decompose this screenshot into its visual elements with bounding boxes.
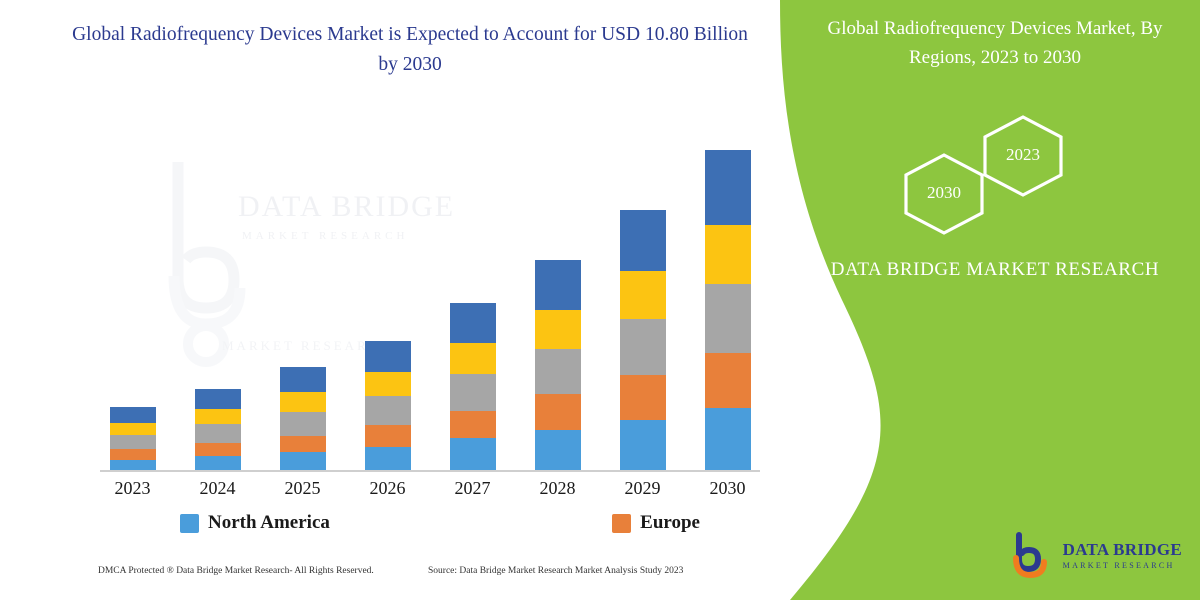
bar-segment-2024-3 <box>195 409 241 424</box>
panel-title: Global Radiofrequency Devices Market, By… <box>810 14 1180 72</box>
bar-segment-2025-4 <box>280 367 326 392</box>
bar-segment-2028-2 <box>535 349 581 395</box>
bar-segment-2023-1 <box>110 449 156 459</box>
bar-2030 <box>705 150 751 470</box>
bar-segment-2028-4 <box>535 260 581 310</box>
bar-segment-2023-2 <box>110 435 156 450</box>
x-tick-2027: 2027 <box>433 478 513 499</box>
x-axis-line <box>100 470 760 472</box>
bar-segment-2030-4 <box>705 150 751 225</box>
hex-badge-2023: 2023 <box>976 112 1070 205</box>
chart-legend: North America Europe <box>180 512 700 534</box>
bar-segment-2029-2 <box>620 319 666 375</box>
bar-segment-2024-1 <box>195 443 241 456</box>
bar-segment-2024-2 <box>195 424 241 443</box>
bar-segment-2029-3 <box>620 271 666 319</box>
bar-segment-2027-1 <box>450 411 496 439</box>
footer-dmca-text: DMCA Protected ® Data Bridge Market Rese… <box>98 566 374 576</box>
legend-item-europe: Europe <box>612 512 700 534</box>
x-tick-2023: 2023 <box>93 478 173 499</box>
x-tick-2028: 2028 <box>518 478 598 499</box>
bar-2027 <box>450 303 496 470</box>
bar-segment-2025-2 <box>280 412 326 436</box>
bar-segment-2026-2 <box>365 396 411 425</box>
logo-subtitle: MARKET RESEARCH <box>1063 562 1182 570</box>
bar-segment-2030-1 <box>705 353 751 408</box>
x-tick-2026: 2026 <box>348 478 428 499</box>
logo-title: DATA BRIDGE <box>1063 541 1182 558</box>
x-tick-2024: 2024 <box>178 478 258 499</box>
stacked-bar-chart <box>90 110 770 470</box>
x-tick-2029: 2029 <box>603 478 683 499</box>
bar-segment-2030-0 <box>705 408 751 470</box>
legend-label-europe: Europe <box>640 512 700 534</box>
footer-source-text: Source: Data Bridge Market Research Mark… <box>428 566 683 576</box>
bar-segment-2026-3 <box>365 372 411 396</box>
bar-segment-2024-0 <box>195 456 241 470</box>
bar-segment-2027-0 <box>450 438 496 470</box>
bar-segment-2028-3 <box>535 310 581 349</box>
right-side-panel: Global Radiofrequency Devices Market, By… <box>780 0 1200 600</box>
bar-segment-2025-0 <box>280 452 326 470</box>
bar-2023 <box>110 407 156 470</box>
bar-segment-2023-4 <box>110 407 156 422</box>
bar-segment-2028-1 <box>535 394 581 429</box>
legend-item-north-america: North America <box>180 512 330 534</box>
legend-swatch-north-america <box>180 514 199 533</box>
company-logo: DATA BRIDGE MARKET RESEARCH <box>1011 532 1182 578</box>
bar-2028 <box>535 260 581 470</box>
bar-segment-2027-2 <box>450 374 496 411</box>
bar-2029 <box>620 210 666 470</box>
legend-label-north-america: North America <box>208 512 330 534</box>
data-bridge-logo-icon <box>1011 532 1055 578</box>
bar-segment-2029-4 <box>620 210 666 271</box>
bar-segment-2027-4 <box>450 303 496 343</box>
legend-swatch-europe <box>612 514 631 533</box>
bar-segment-2024-4 <box>195 389 241 409</box>
bar-segment-2023-3 <box>110 423 156 435</box>
bar-segment-2023-0 <box>110 460 156 470</box>
bar-segment-2025-3 <box>280 392 326 412</box>
x-axis-tick-labels: 20232024202520262027202820292030 <box>90 478 770 508</box>
x-tick-2025: 2025 <box>263 478 343 499</box>
bar-segment-2026-1 <box>365 425 411 447</box>
bar-segment-2025-1 <box>280 436 326 452</box>
bar-segment-2026-4 <box>365 341 411 372</box>
bar-segment-2027-3 <box>450 343 496 374</box>
hex-badge-2023-label: 2023 <box>976 145 1070 165</box>
bar-2025 <box>280 367 326 470</box>
bar-segment-2026-0 <box>365 447 411 470</box>
bar-segment-2029-1 <box>620 375 666 420</box>
bar-2024 <box>195 389 241 470</box>
bar-segment-2030-2 <box>705 284 751 353</box>
panel-brand-name: DATA BRIDGE MARKET RESEARCH <box>810 255 1180 285</box>
x-tick-2030: 2030 <box>688 478 768 499</box>
page-title: Global Radiofrequency Devices Market is … <box>60 20 760 80</box>
bar-segment-2029-0 <box>620 420 666 470</box>
bar-2026 <box>365 341 411 470</box>
bar-segment-2030-3 <box>705 225 751 284</box>
bar-segment-2028-0 <box>535 430 581 470</box>
